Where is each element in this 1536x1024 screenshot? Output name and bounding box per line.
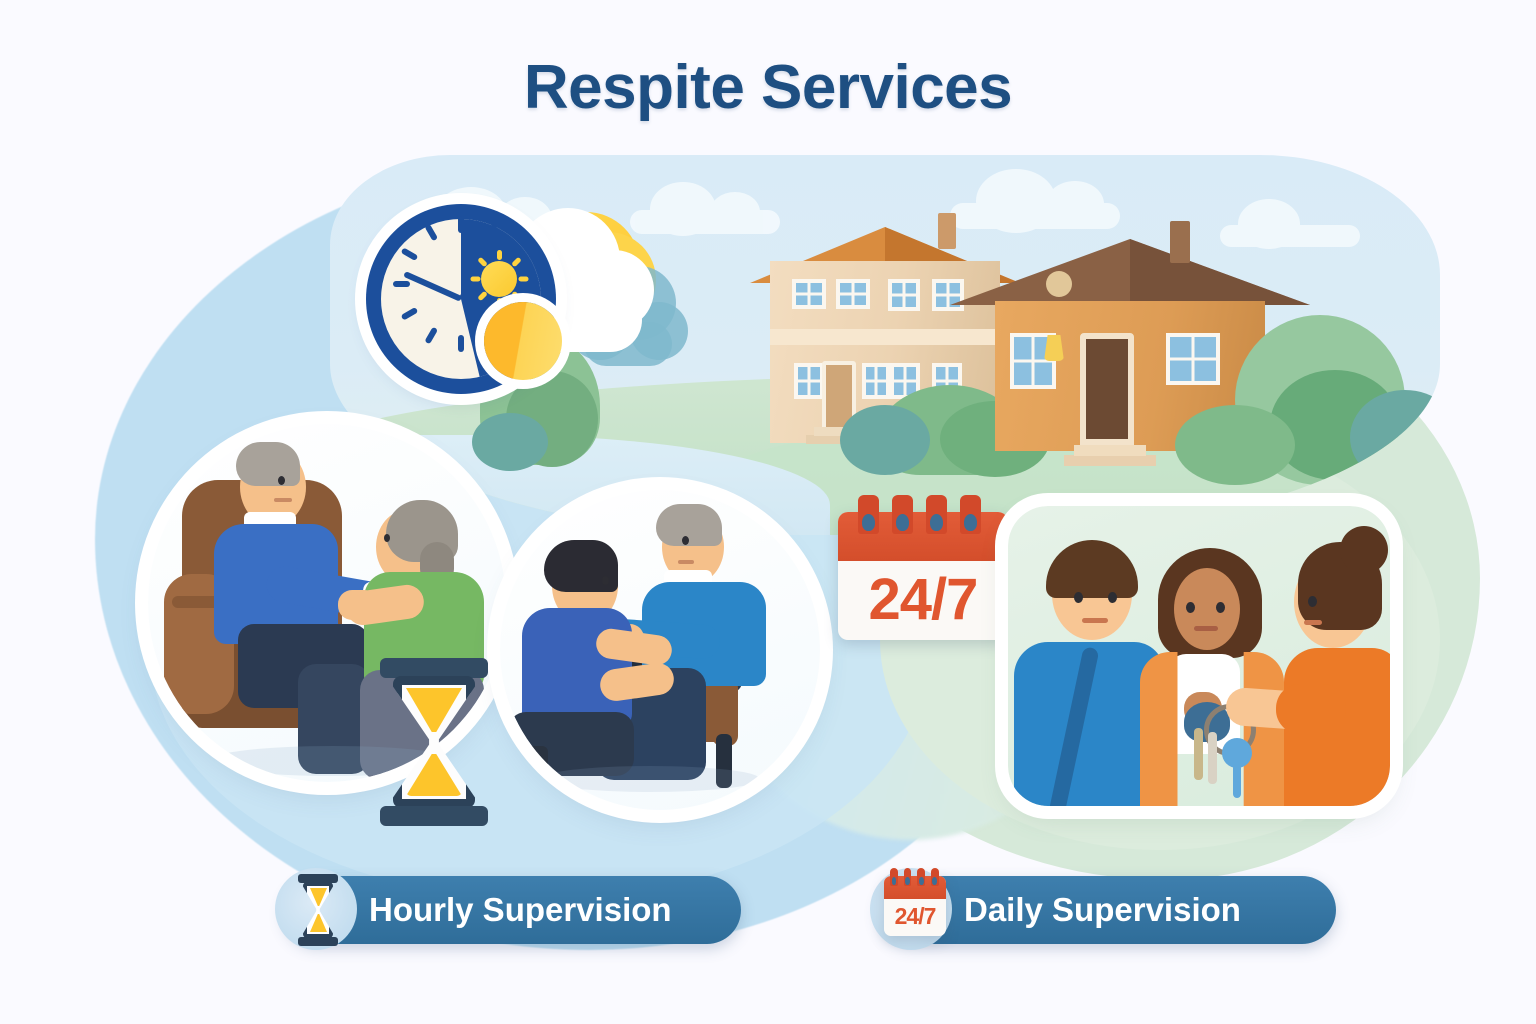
senior-man-eye [278, 476, 285, 485]
seated-senior-mouth [678, 560, 694, 564]
calendar-ring [926, 495, 946, 533]
hourglass-icon [295, 874, 341, 946]
in-home-support-scene [500, 490, 820, 810]
bush-shape [840, 405, 930, 475]
gable-vent [1046, 271, 1072, 297]
floor-shadow [540, 766, 760, 792]
hourly-supervision-label[interactable]: Hourly Supervision [283, 876, 741, 944]
right-woman-hair-bun [1340, 526, 1388, 574]
calendar-label: 24/7 [884, 899, 946, 935]
calendar-icon-badge: 24/7 [870, 868, 952, 950]
caregiver-woman-eye [384, 534, 390, 542]
kneeling-caregiver-shoe [506, 746, 548, 780]
calendar-ring [892, 495, 912, 533]
young-man-eye [1108, 592, 1117, 603]
clock-tick [458, 216, 464, 233]
hourglass-cap-bottom [380, 806, 488, 826]
legend-row: Hourly Supervision 24/7 Daily Supervisio… [0, 860, 1536, 970]
clock-tick [458, 335, 464, 352]
window-shape [862, 363, 890, 399]
calendar-ring [931, 868, 938, 886]
center-woman-eye [1186, 602, 1195, 613]
senior-man-mouth [274, 498, 292, 502]
key-fob-stem [1233, 764, 1241, 798]
page-title: Respite Services [0, 52, 1536, 123]
hourly-supervision-text: Hourly Supervision [369, 891, 672, 929]
senior-man-hair [236, 442, 300, 486]
center-woman-mouth [1194, 626, 1218, 631]
right-woman-mouth [1304, 620, 1322, 625]
calendar-ring [904, 868, 911, 886]
seated-senior-eye [682, 536, 689, 545]
window-shape [836, 279, 870, 309]
young-man-mouth [1082, 618, 1108, 623]
illustration-canvas: Respite Services [0, 0, 1536, 1024]
sun-badge-icon [484, 302, 562, 380]
window-shape [794, 363, 824, 399]
right-woman-eye [1308, 596, 1317, 607]
calendar-24-7-icon: 24/7 [838, 512, 1008, 640]
center-woman-eye [1216, 602, 1225, 613]
daily-handover-scene [1008, 506, 1390, 806]
entry-steps [1064, 441, 1156, 465]
hourglass-icon-badge [275, 868, 357, 950]
kneeling-caregiver-eye [602, 576, 609, 585]
caregiver-woman-hand [338, 590, 378, 620]
young-man-eye [1074, 592, 1083, 603]
window-shape [888, 279, 920, 311]
calendar-ring [917, 868, 924, 886]
calendar-label: 24/7 [838, 561, 1008, 638]
chimney-shape [1170, 221, 1190, 263]
window-shape [792, 279, 826, 309]
hourglass-icon [380, 658, 488, 826]
daily-supervision-label[interactable]: 24/7 Daily Supervision [878, 876, 1336, 944]
seated-senior-hair [656, 504, 722, 546]
sun-icon [470, 250, 528, 308]
bush-shape [1175, 405, 1295, 485]
clock-tick [393, 281, 410, 287]
roof-shadow-shape [1130, 239, 1310, 305]
window-shape [1166, 333, 1220, 385]
front-door [1080, 333, 1134, 445]
key-shape [1208, 732, 1217, 784]
right-woman-sleeve [1276, 684, 1346, 734]
calendar-24-7-icon: 24/7 [884, 876, 946, 936]
calendar-ring [858, 495, 878, 533]
daily-supervision-text: Daily Supervision [964, 891, 1241, 929]
calendar-ring [890, 868, 897, 886]
key-shape [1194, 728, 1203, 780]
day-night-clock-cluster [352, 190, 692, 420]
hourglass-cap-top [380, 658, 488, 678]
center-woman-face [1174, 568, 1240, 650]
calendar-ring [960, 495, 980, 533]
